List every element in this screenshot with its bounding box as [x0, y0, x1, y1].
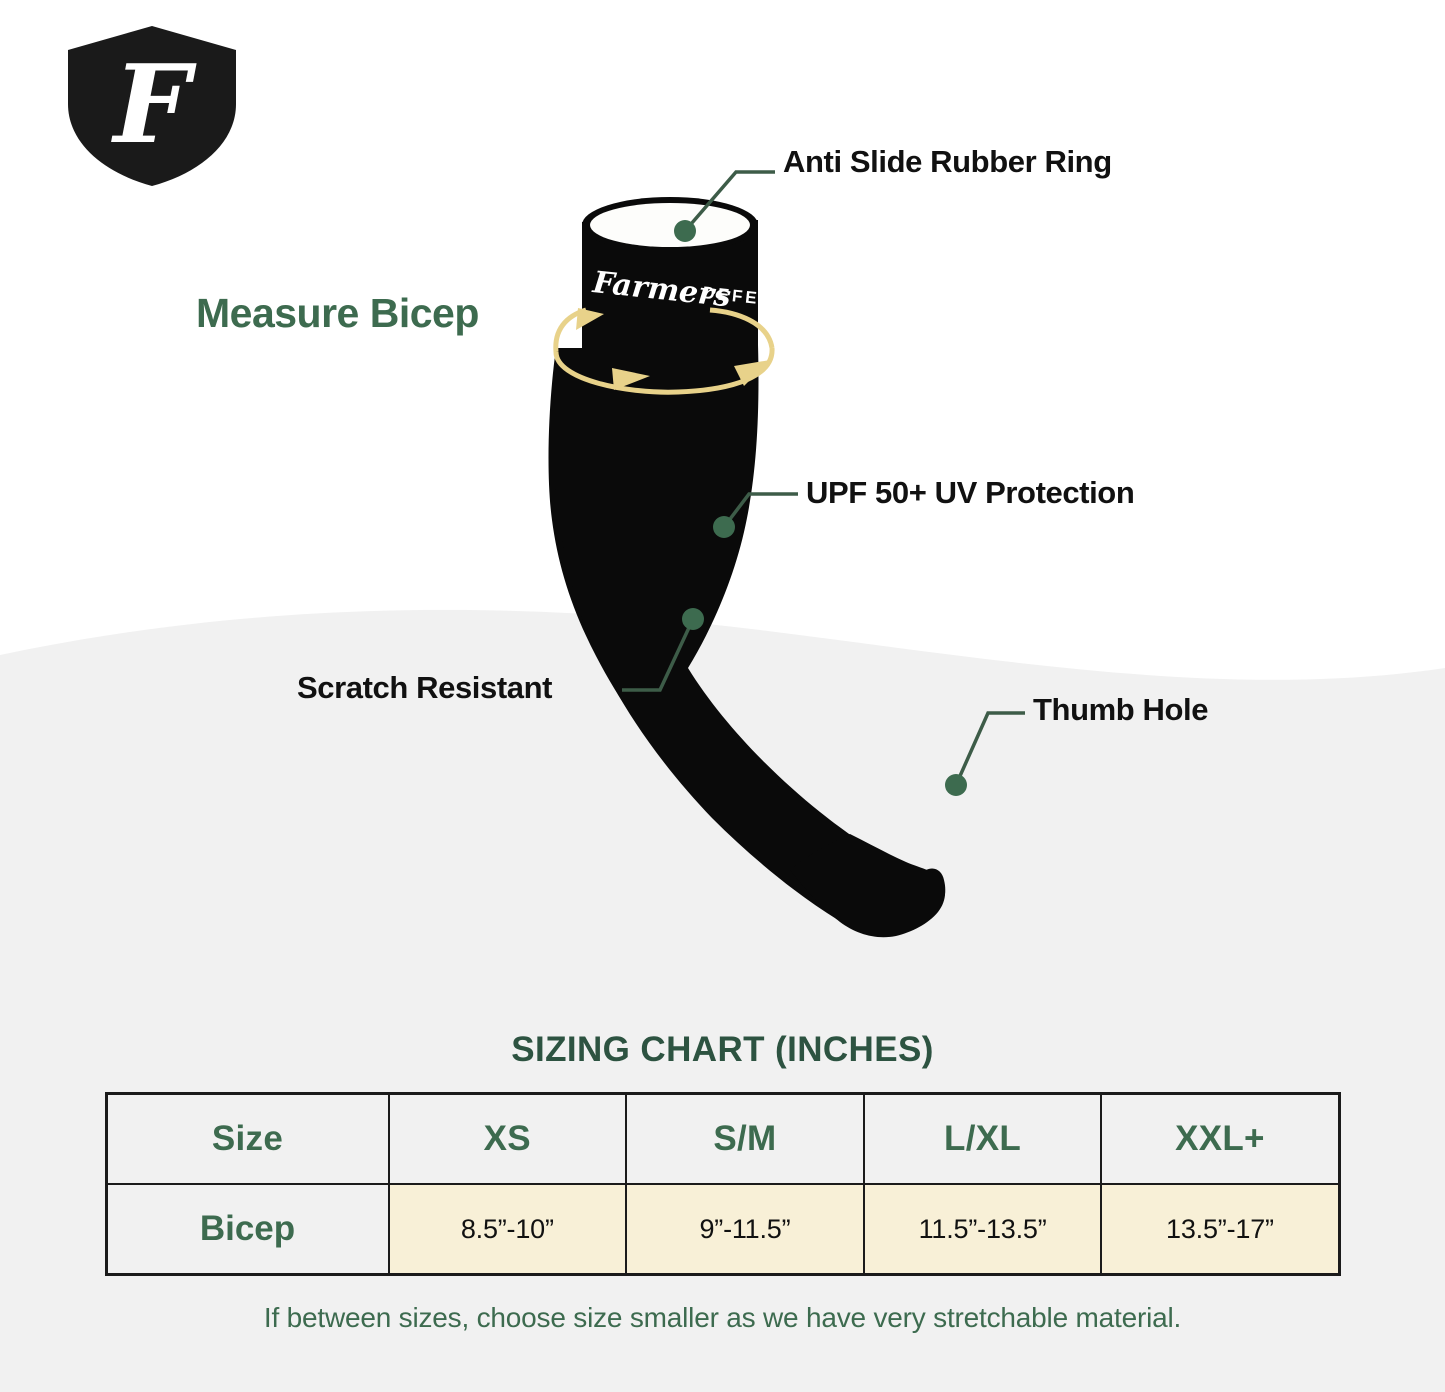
table-cell-bicep-sm: 9”-11.5” [626, 1184, 864, 1275]
measure-bicep-label: Measure Bicep [196, 290, 479, 337]
table-header-xs: XS [389, 1094, 627, 1185]
table-cell-bicep-lxl: 11.5”-13.5” [864, 1184, 1102, 1275]
sizing-chart-table: Size XS S/M L/XL XXL+ Bicep 8.5”-10” 9”-… [105, 1092, 1341, 1276]
arm-sleeve-illustration: Farmers DEFENSE [520, 180, 1060, 950]
shield-logo-icon: F [52, 16, 252, 196]
table-cell-bicep-xxl: 13.5”-17” [1101, 1184, 1339, 1275]
logo-letter: F [111, 42, 197, 168]
table-row-label-bicep: Bicep [106, 1184, 389, 1275]
sizing-chart-note: If between sizes, choose size smaller as… [0, 1302, 1445, 1334]
table-header-lxl: L/XL [864, 1094, 1102, 1185]
table-header-sm: S/M [626, 1094, 864, 1185]
callout-label-anti-slide-rubber-ring: Anti Slide Rubber Ring [783, 144, 1112, 180]
product-infographic: F Farmers DEFENSE [0, 0, 1445, 1392]
table-row: Bicep 8.5”-10” 9”-11.5” 11.5”-13.5” 13.5… [106, 1184, 1339, 1275]
table-header-xxl: XXL+ [1101, 1094, 1339, 1185]
callout-label-upf-uv-protection: UPF 50+ UV Protection [806, 475, 1134, 511]
sizing-chart-title: SIZING CHART (INCHES) [0, 1030, 1445, 1070]
table-cell-bicep-xs: 8.5”-10” [389, 1184, 627, 1275]
callout-label-thumb-hole: Thumb Hole [1033, 692, 1208, 728]
table-header-row: Size XS S/M L/XL XXL+ [106, 1094, 1339, 1185]
callout-label-scratch-resistant: Scratch Resistant [297, 670, 552, 706]
table-header-size: Size [106, 1094, 389, 1185]
sizing-chart-section: SIZING CHART (INCHES) Size XS S/M L/XL X… [0, 1030, 1445, 1334]
